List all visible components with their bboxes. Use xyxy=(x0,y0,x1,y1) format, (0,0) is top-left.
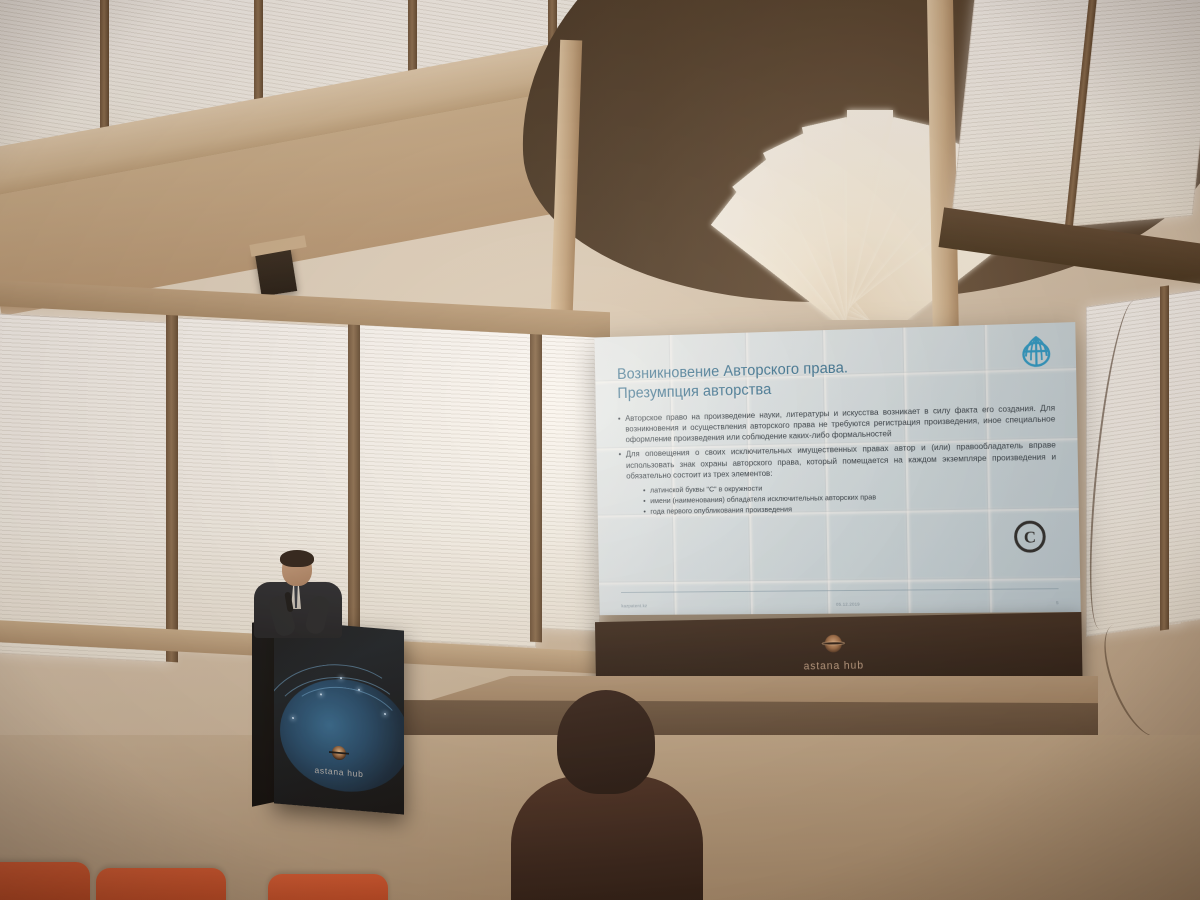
audience-person xyxy=(505,690,705,900)
network-node xyxy=(340,677,342,679)
sub-bullet-text: года первого опубликования произведения xyxy=(650,504,792,517)
bullet-marker: • xyxy=(643,496,646,507)
photo-scene: Возникновение Авторского права. Презумпц… xyxy=(0,0,1200,900)
window-panel xyxy=(1168,286,1200,624)
slide-bullet-list: • Авторское право на произведение науки,… xyxy=(618,402,1057,517)
audience-torso xyxy=(511,776,703,900)
chair xyxy=(96,868,226,900)
network-node xyxy=(320,693,322,695)
chair xyxy=(268,874,388,900)
astana-hub-sphere-icon xyxy=(329,742,349,764)
window-blind xyxy=(356,320,536,647)
astana-hub-sphere-icon xyxy=(821,631,846,657)
audience-head xyxy=(557,690,655,794)
bullet-marker: • xyxy=(643,506,646,517)
network-node xyxy=(358,689,360,691)
window-blind xyxy=(0,313,172,662)
astana-hub-wordmark: astana hub xyxy=(804,660,864,673)
network-node xyxy=(384,713,386,715)
copyright-icon: C xyxy=(1014,520,1046,552)
bullet-marker: • xyxy=(643,485,646,496)
slide-footer: kazpatent.kz 05.12.2019 5 xyxy=(621,588,1059,608)
window-blind xyxy=(540,328,600,631)
slide-page-number: 5 xyxy=(1056,600,1059,605)
window-mullion xyxy=(166,314,178,663)
slide-sub-bullet-list: • латинской буквы "C" в окружности • име… xyxy=(643,477,1057,516)
podium: astana hub xyxy=(252,617,404,809)
bullet-marker: • xyxy=(618,413,621,445)
bullet-text: Для оповещения о своих исключительных им… xyxy=(626,440,1057,482)
copyright-glyph: C xyxy=(1024,528,1036,545)
bullet-marker: • xyxy=(618,449,621,481)
window-mullion xyxy=(530,322,542,643)
podium-front-panel: astana hub xyxy=(274,619,404,814)
window-mullion xyxy=(1160,285,1169,630)
network-node xyxy=(292,717,294,719)
slide-bullet: • Для оповещения о своих исключительных … xyxy=(618,440,1056,482)
kazpatent-logo xyxy=(1016,332,1056,373)
slide-footer-date: 05.12.2019 xyxy=(836,602,860,607)
slide-title: Возникновение Авторского права. Презумпц… xyxy=(617,353,1055,405)
speaker-hair xyxy=(280,550,314,567)
slide-bullet: • Авторское право на произведение науки,… xyxy=(618,402,1056,445)
bullet-text: Авторское право на произведение науки, л… xyxy=(625,402,1056,445)
slide-footer-source: kazpatent.kz xyxy=(621,603,647,608)
speaker-person xyxy=(246,552,350,632)
presentation-screen[interactable]: Возникновение Авторского права. Презумпц… xyxy=(595,322,1081,615)
slide-content: Возникновение Авторского права. Презумпц… xyxy=(595,322,1081,615)
chair xyxy=(0,862,90,900)
